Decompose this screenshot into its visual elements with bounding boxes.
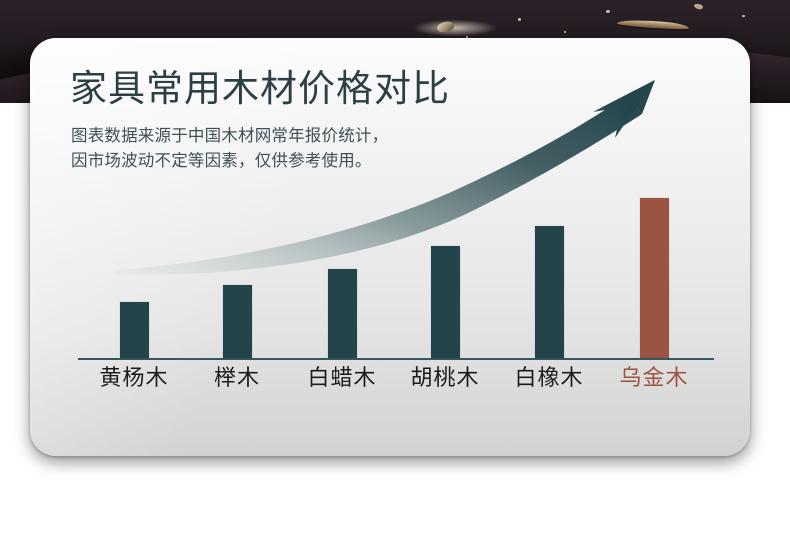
- wood-chip-icon: [436, 20, 455, 35]
- dust-speck: [742, 15, 745, 17]
- category-label-0: 黄杨木: [74, 363, 194, 393]
- bar-chart: 黄杨木 榉木 白蜡木 胡桃木 白橡木 乌金木: [30, 38, 750, 456]
- bar-wujinmu[interactable]: [640, 198, 669, 358]
- dust-speck: [518, 18, 521, 21]
- category-label-1: 榉木: [177, 363, 297, 393]
- category-label-4: 白橡木: [489, 363, 609, 393]
- bar-baixiangmu[interactable]: [535, 226, 564, 358]
- dust-speck: [606, 10, 610, 13]
- dust-speck: [564, 31, 566, 33]
- chart-baseline-axis: [78, 358, 714, 360]
- wood-sliver-icon: [617, 18, 689, 30]
- bar-bailamu[interactable]: [328, 269, 357, 358]
- wood-fleck-icon: [694, 3, 704, 10]
- bar-huangyangmu[interactable]: [120, 302, 149, 358]
- chart-card: 家具常用木材价格对比 图表数据来源于中国木材网常年报价统计， 因市场波动不定等因…: [30, 38, 750, 456]
- category-label-2: 白蜡木: [282, 363, 402, 393]
- bar-jumu[interactable]: [223, 285, 252, 358]
- category-label-3: 胡桃木: [385, 363, 505, 393]
- bar-hutaomu[interactable]: [431, 246, 460, 358]
- category-label-5: 乌金木: [594, 363, 714, 393]
